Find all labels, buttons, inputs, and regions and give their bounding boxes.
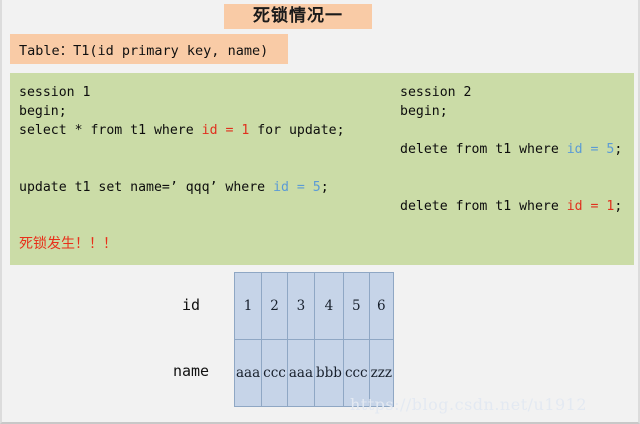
session-1-line-select: select * from t1 where id = 1 for update… bbox=[19, 121, 345, 140]
session-2-line-delete-5-highlight: id = 5 bbox=[567, 142, 615, 157]
session-2-line-delete-1-highlight: id = 1 bbox=[567, 199, 615, 214]
session-2-line-delete-1-prefix: delete from t1 where bbox=[400, 199, 567, 214]
session-1-spacer-1 bbox=[19, 140, 345, 178]
cell-name-3: aaa bbox=[287, 340, 314, 407]
table-definition-banner: Table：T1(id primary key, name) bbox=[10, 34, 288, 64]
cell-id-2: 2 bbox=[262, 273, 288, 340]
cell-id-4: 4 bbox=[315, 273, 344, 340]
table-row: 1 2 3 4 5 6 bbox=[235, 273, 394, 340]
session-1-line-update: update t1 set name=’ qqq’ where id = 5; bbox=[19, 178, 345, 197]
session-1-line-update-suffix: ; bbox=[321, 180, 329, 195]
slide-title-text: 死锁情况一 bbox=[253, 8, 343, 25]
cell-name-6: zzz bbox=[369, 340, 393, 407]
cell-id-3: 3 bbox=[287, 273, 314, 340]
sessions-panel: session 1 begin; select * from t1 where … bbox=[10, 73, 634, 265]
session-1-line-update-highlight: id = 5 bbox=[273, 180, 321, 195]
session-2-header: session 2 bbox=[400, 83, 622, 102]
slide-page: 死锁情况一 Table：T1(id primary key, name) ses… bbox=[0, 0, 640, 424]
slide-title-banner: 死锁情况一 bbox=[224, 4, 372, 29]
session-1-line-select-highlight: id = 1 bbox=[202, 123, 250, 138]
session-2-line-delete-5: delete from t1 where id = 5; bbox=[400, 140, 622, 159]
session-2-line-begin-prefix: begin; bbox=[400, 104, 448, 119]
cell-name-2: ccc bbox=[262, 340, 288, 407]
session-1-line-begin-prefix: begin; bbox=[19, 104, 67, 119]
session-2-column: session 2 begin; delete from t1 where id… bbox=[400, 83, 622, 216]
session-1-line-select-prefix: select * from t1 where bbox=[19, 123, 202, 138]
cell-id-1: 1 bbox=[235, 273, 262, 340]
session-1-line-update-prefix: update t1 set name=’ qqq’ where bbox=[19, 180, 273, 195]
session-2-spacer-1 bbox=[400, 121, 622, 140]
data-table: 1 2 3 4 5 6 aaa ccc aaa bbb ccc zzz bbox=[234, 272, 394, 407]
session-1-line-select-suffix: for update; bbox=[249, 123, 344, 138]
session-1-line-begin: begin; bbox=[19, 102, 345, 121]
session-1-column: session 1 begin; select * from t1 where … bbox=[19, 83, 345, 197]
deadlock-message: 死锁发生！！！ bbox=[19, 233, 117, 253]
session-2-line-begin: begin; bbox=[400, 102, 622, 121]
data-table-row-labels: id name bbox=[152, 272, 230, 404]
session-2-line-delete-1: delete from t1 where id = 1; bbox=[400, 197, 622, 216]
row-label-id: id bbox=[152, 272, 230, 338]
table-definition-text: Table：T1(id primary key, name) bbox=[10, 39, 268, 59]
cell-name-4: bbb bbox=[315, 340, 344, 407]
row-label-name: name bbox=[152, 338, 230, 404]
table-row: aaa ccc aaa bbb ccc zzz bbox=[235, 340, 394, 407]
cell-name-1: aaa bbox=[235, 340, 262, 407]
session-2-line-delete-5-suffix: ; bbox=[614, 142, 622, 157]
cell-id-6: 6 bbox=[369, 273, 393, 340]
session-2-line-delete-1-suffix: ; bbox=[614, 199, 622, 214]
session-2-line-delete-5-prefix: delete from t1 where bbox=[400, 142, 567, 157]
cell-id-5: 5 bbox=[343, 273, 369, 340]
cell-name-5: ccc bbox=[343, 340, 369, 407]
session-1-header: session 1 bbox=[19, 83, 345, 102]
session-2-spacer-2 bbox=[400, 159, 622, 197]
